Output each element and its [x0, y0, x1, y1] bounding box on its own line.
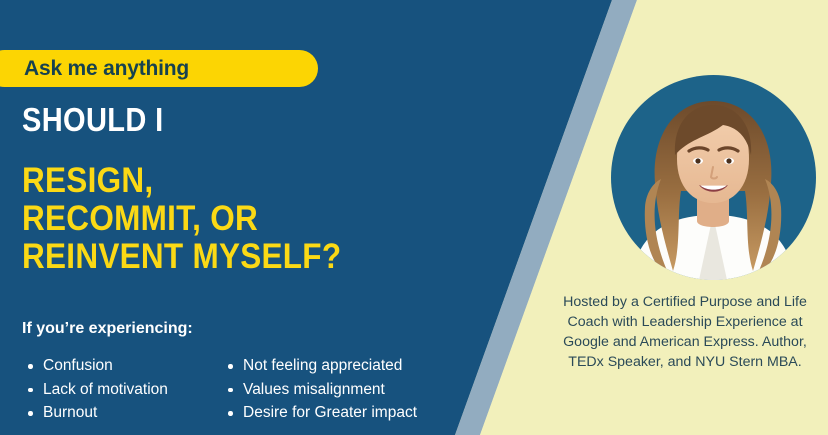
headline-line-3: REINVENT MYSELF?: [22, 238, 341, 276]
promo-poster: Ask me anything SHOULD I RESIGN, RECOMMI…: [0, 0, 828, 435]
list-item: Values misalignment: [226, 378, 417, 402]
list-item: Not feeling appreciated: [226, 354, 417, 378]
badge-label: Ask me anything: [24, 57, 189, 81]
headline-line-1: RESIGN,: [22, 162, 341, 200]
experiencing-prompt: If you’re experiencing:: [22, 320, 193, 338]
list-item: Desire for Greater impact: [226, 401, 417, 425]
list-item: Confusion: [26, 354, 168, 378]
symptom-list-right: Not feeling appreciated Values misalignm…: [226, 354, 417, 425]
ask-me-anything-badge: Ask me anything: [0, 50, 318, 87]
main-headline: RESIGN, RECOMMIT, OR REINVENT MYSELF?: [22, 162, 341, 275]
kicker-heading: SHOULD I: [22, 103, 164, 136]
list-item: Lack of motivation: [26, 378, 168, 402]
symptom-list-left: Confusion Lack of motivation Burnout: [26, 354, 168, 425]
host-bio-text: Hosted by a Certified Purpose and Life C…: [546, 292, 824, 373]
list-item: Burnout: [26, 401, 168, 425]
headline-line-2: RECOMMIT, OR: [22, 200, 341, 238]
headshot-photo-icon: [611, 75, 816, 280]
